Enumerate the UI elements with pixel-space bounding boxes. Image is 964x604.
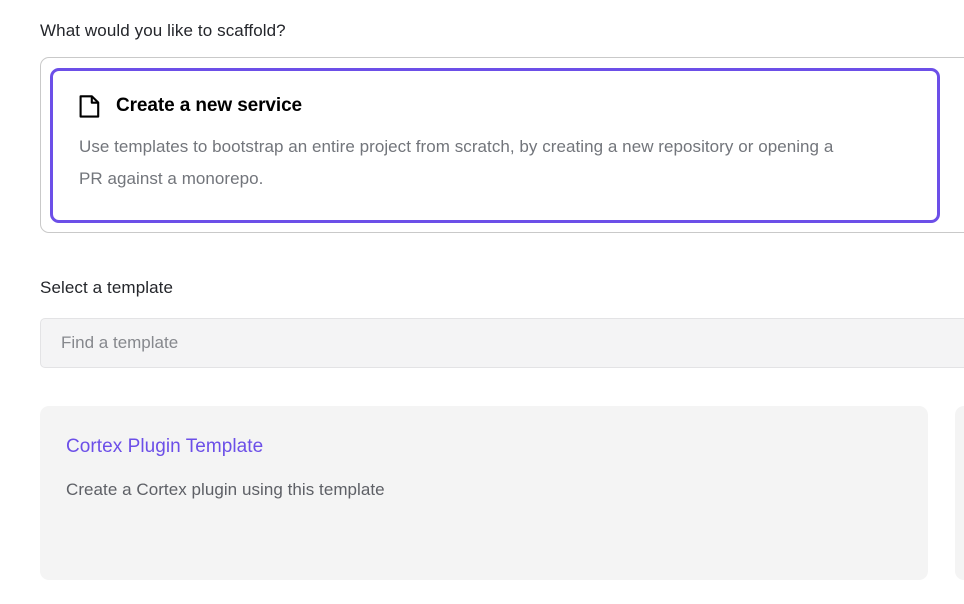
document-icon	[79, 95, 100, 118]
scaffold-option-description: Use templates to bootstrap an entire pro…	[79, 131, 849, 195]
template-card[interactable]: Cortex Plugin Template Create a Cortex p…	[40, 406, 928, 580]
template-search-input[interactable]	[40, 318, 964, 368]
scaffold-option-create-new-service[interactable]: Create a new service Use templates to bo…	[50, 68, 940, 223]
scaffold-option-title: Create a new service	[116, 94, 302, 118]
template-name-link[interactable]: Cortex Plugin Template	[66, 434, 263, 460]
template-results-grid: Cortex Plugin Template Create a Cortex p…	[40, 406, 964, 596]
page-title: What would you like to scaffold?	[40, 19, 286, 43]
template-description: Create a Cortex plugin using this templa…	[66, 478, 902, 502]
select-template-label: Select a template	[40, 276, 173, 300]
template-card[interactable]	[955, 406, 964, 580]
scaffold-option-header: Create a new service	[79, 93, 911, 119]
